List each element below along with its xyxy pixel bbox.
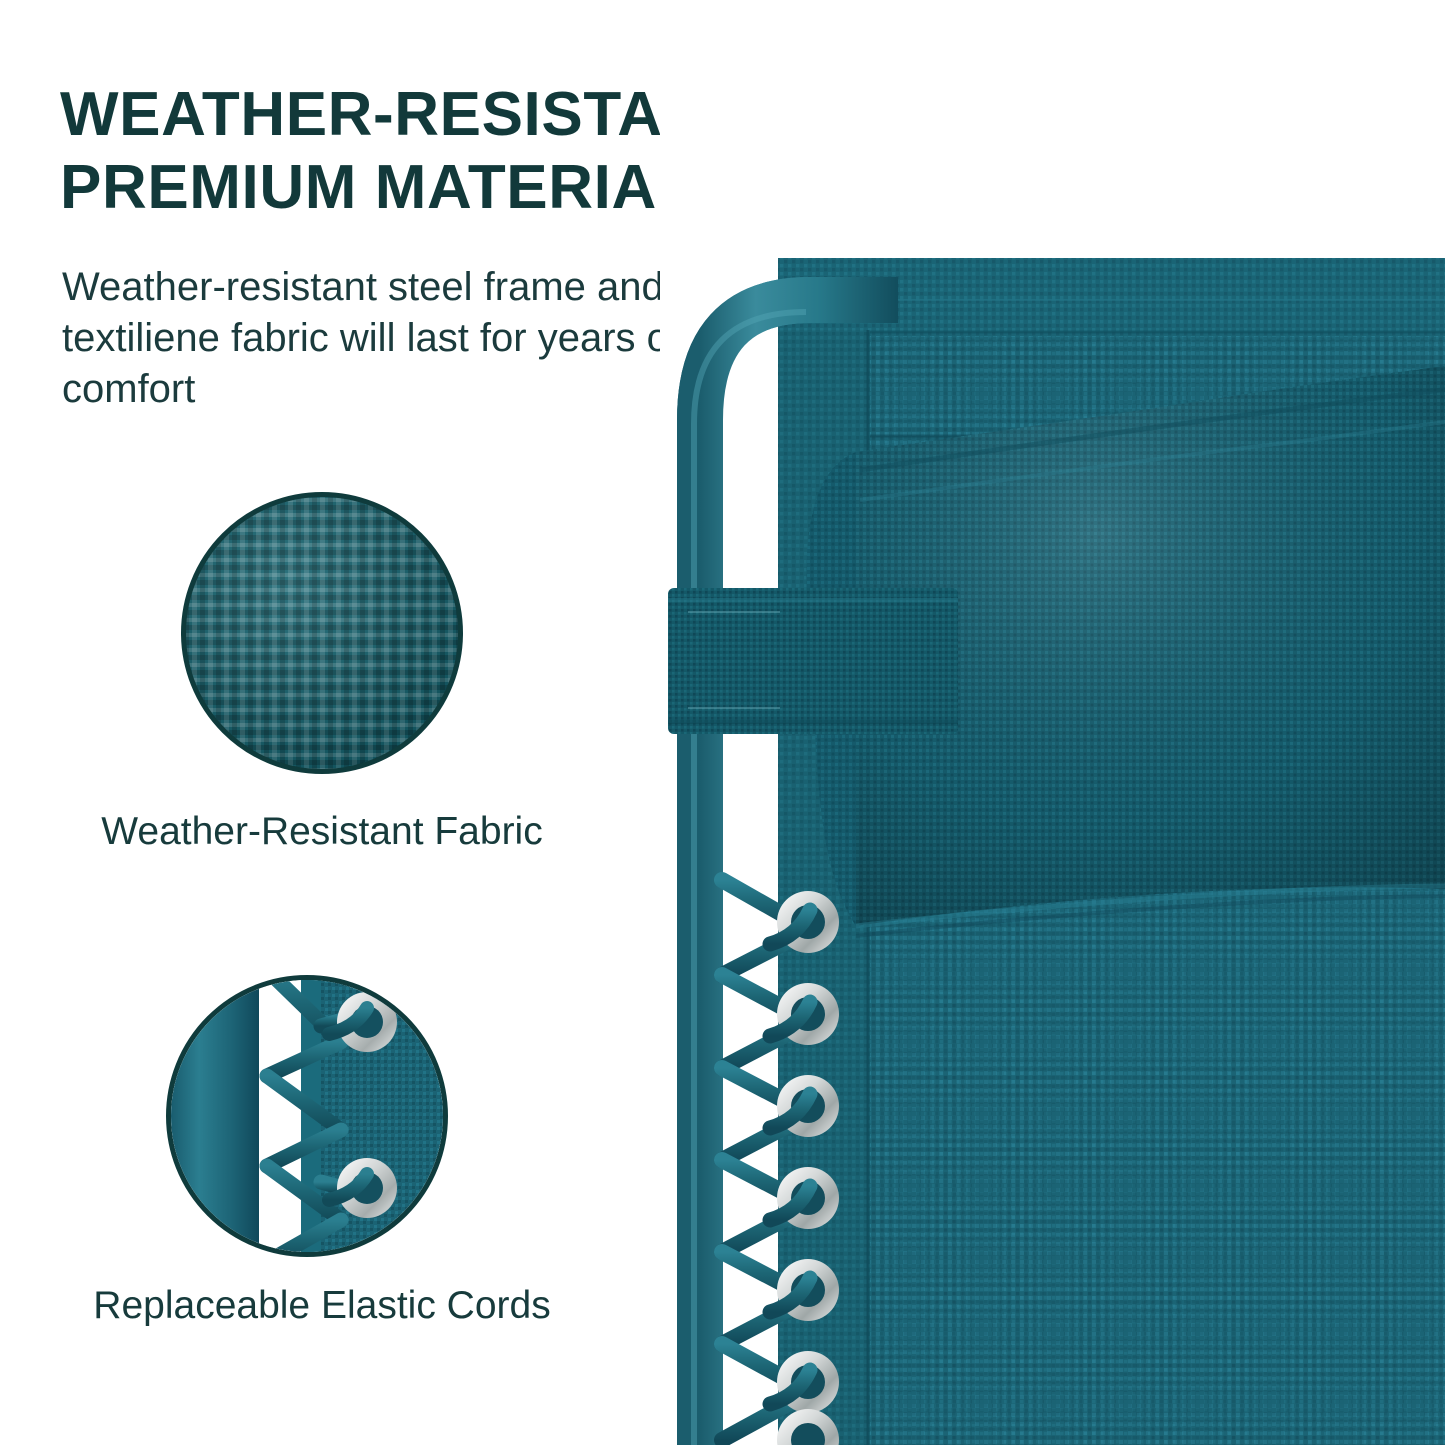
fabric-swatch-shading (186, 497, 458, 769)
feature-label-fabric: Weather-Resistant Fabric (42, 808, 602, 856)
cord-grommet-illustration (171, 980, 443, 1252)
fabric-weave-swatch (181, 492, 463, 774)
product-photo (660, 0, 1445, 1445)
headline-line-1: Weather-Resistant (60, 80, 746, 149)
subheading-text: Weather-resistant steel frame and textil… (62, 262, 722, 414)
elastic-cord-grommet-swatch (166, 975, 448, 1257)
feature-label-cords: Replaceable Elastic Cords (42, 1282, 602, 1330)
infographic-canvas: Weather-Resistant Premium Materials Weat… (0, 0, 1445, 1445)
